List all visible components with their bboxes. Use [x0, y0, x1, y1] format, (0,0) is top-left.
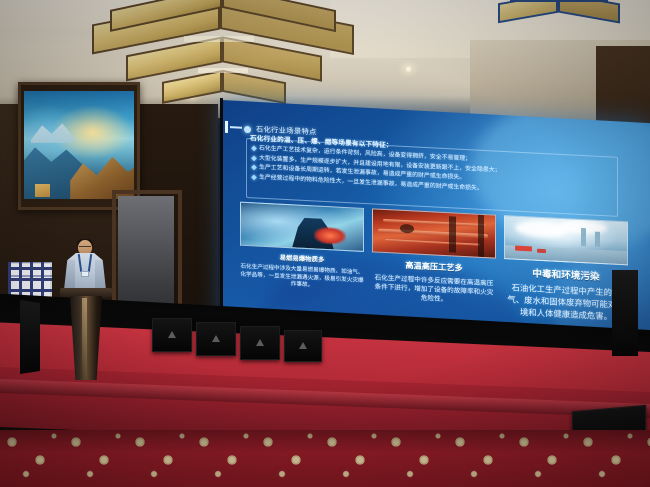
slide-column-3: 中毒和环境污染 石油化工生产过程中产生的废气、废水和固体废弃物可能对环境和人体健… — [504, 215, 628, 324]
conference-hall-scene: 石化行业场景特点 石化行业的温、压、爆、燃等场景有以下特征： 石化生产工艺技术复… — [0, 0, 650, 487]
column-body: 石化生产过程中许多反应需要在高温高压条件下进行，增加了设备的故障率和火灾危险性。 — [372, 273, 496, 306]
stage-speaker-box — [196, 322, 236, 356]
diamond-bullet-icon — [251, 174, 257, 180]
column-body: 石化生产过程中涉及大量易燃易爆物质、如油气、化学品等，一旦发生泄漏遇火源，极易引… — [240, 264, 364, 293]
column-heading: 高温高压工艺多 — [372, 257, 496, 275]
podium — [60, 288, 112, 380]
diamond-bullet-icon — [251, 155, 257, 161]
title-rule — [230, 126, 242, 129]
stage-speaker-box — [152, 318, 192, 352]
presenter-arm-left — [64, 260, 75, 290]
title-marker — [225, 121, 228, 133]
chandelier-secondary — [498, 0, 620, 24]
diamond-bullet-icon — [251, 146, 257, 152]
line-array-speaker-left — [20, 300, 40, 374]
slide-column-1: 易燃易爆物质多 石化生产过程中涉及大量易燃易爆物质、如油气、化学品等，一旦发生泄… — [240, 202, 364, 311]
column-body: 石油化工生产过程中产生的废气、废水和固体废弃物可能对环境和人体健康造成危害。 — [504, 282, 628, 324]
glasses-icon — [79, 246, 91, 250]
refinery-emissions-image — [504, 215, 628, 265]
name-badge — [81, 271, 89, 277]
podium-top — [60, 288, 112, 297]
stage-speaker-box — [240, 326, 280, 360]
podium-highlight — [82, 298, 87, 378]
presenter-arm-right — [95, 260, 106, 290]
high-pressure-piping-image — [372, 208, 496, 258]
line-array-speaker-right — [612, 270, 638, 356]
diamond-bullet-icon — [251, 165, 257, 171]
slide-column-2: 高温高压工艺多 石化生产过程中许多反应需要在高温高压条件下进行，增加了设备的故障… — [372, 208, 496, 317]
firefighters-image — [240, 202, 364, 252]
mountain-landscape-painting — [24, 91, 134, 199]
stage-speaker-box — [284, 330, 322, 362]
column-heading: 中毒和环境污染 — [504, 264, 628, 284]
slide-columns: 易燃易爆物质多 石化生产过程中涉及大量易燃易爆物质、如油气、化学品等，一旦发生泄… — [240, 202, 636, 325]
floor-carpet — [0, 430, 650, 487]
downlight-icon — [404, 66, 413, 72]
